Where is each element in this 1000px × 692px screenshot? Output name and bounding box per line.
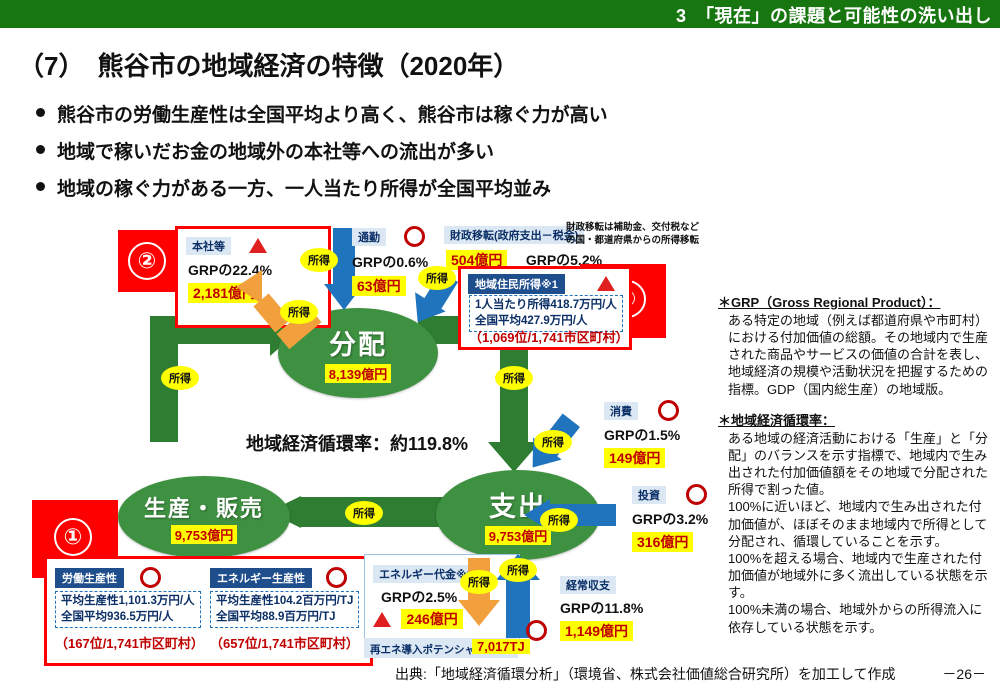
consumption-info: 消費 GRPの1.5% 149億円	[604, 400, 680, 468]
labor-productivity-tag: 労働生産性	[55, 568, 124, 588]
commute-grp: GRPの0.6%	[352, 252, 428, 272]
labor-productivity-value: 平均生産性1,101.3万円/人	[61, 595, 195, 607]
flow-label-income: 所得	[300, 248, 338, 272]
labor-productivity-national-average: 全国平均936.5万円/人	[61, 611, 173, 623]
circle-red-icon	[326, 567, 347, 588]
circulation-rate-label: 地域経済循環率：約119.8%	[246, 430, 468, 456]
list-item: 地域の稼ぐ力がある一方、一人当たり所得が全国平均並み	[36, 174, 736, 201]
circle-red-icon	[140, 567, 161, 588]
fiscal-transfer-note: 財政移転は補助金、交付税など の国・都道府県からの所得移転	[566, 222, 714, 248]
bullet-text: 熊谷市の労働生産性は全国平均より高く、熊谷市は稼ぐ力が高い	[57, 100, 608, 127]
circle-red-icon	[526, 620, 547, 641]
flow-label-income: 所得	[418, 266, 456, 290]
triangle-red-icon	[249, 238, 267, 253]
note-body: ある特定の地域（例えば都道府県や市町村）における付加価値の総額。その地域内で生産…	[718, 312, 994, 398]
node-label: 生産・販売	[144, 491, 264, 523]
regional-economy-flow-diagram: 所得 所得 所得 分配 8,139億円 生産・販売 9,753億円 支出 9,7…	[0, 218, 712, 668]
bullet-dot-icon	[36, 145, 45, 154]
flow-label-income: 所得	[345, 501, 383, 525]
side-notes: ＊GRP（Gross Regional Product）： ある特定の地域（例え…	[718, 292, 994, 648]
investment-amount: 316億円	[632, 532, 693, 552]
resident-income-rank: （1,069位/1,741市区町村）	[469, 327, 629, 346]
energy-cost-amount: 246億円	[401, 609, 462, 629]
list-item: 熊谷市の労働生産性は全国平均より高く、熊谷市は稼ぐ力が高い	[36, 100, 736, 127]
callout-2-number: ②	[128, 242, 166, 280]
bullet-text: 地域の稼ぐ力がある一方、一人当たり所得が全国平均並み	[57, 174, 551, 201]
circle-red-icon	[404, 226, 425, 247]
callout-1-card-labor: 労働生産性 平均生産性1,101.3万円/人 全国平均936.5万円/人 （16…	[44, 556, 210, 666]
consumption-amount: 149億円	[604, 448, 665, 468]
flow-label-income: 所得	[161, 366, 199, 390]
labor-productivity-rank: （167位/1,741市区町村）	[55, 633, 204, 652]
node-label: 分配	[329, 323, 387, 362]
circle-red-icon	[658, 400, 679, 421]
renewable-potential-value: 7,017TJ	[472, 639, 530, 654]
energy-productivity-rank: （657位/1,741市区町村）	[210, 633, 359, 652]
callout-3-card: 地域住民所得※1 1人当たり所得418.7万円/人 全国平均427.9万円/人 …	[458, 266, 632, 350]
current-balance-tag: 経常収支	[560, 576, 616, 594]
page-number: －26－	[942, 664, 986, 684]
header-section-label: 3 「現在」の課題と可能性の洗い出し	[676, 2, 992, 28]
list-item: 地域で稼いだお金の地域外の本社等への流出が多い	[36, 137, 736, 164]
node-value: 9,753億円	[171, 525, 238, 544]
source-citation: 出典:「地域経済循環分析」（環境省、株式会社価値総合研究所）を加工して作成	[395, 664, 895, 684]
commute-amount: 63億円	[352, 276, 406, 296]
fiscal-transfer-tag: 財政移転(政府支出－税金)	[444, 226, 584, 244]
flow-label-income: 所得	[540, 508, 578, 532]
current-balance-info: 経常収支 GRPの11.8% 1,149億円	[560, 576, 643, 641]
headquarters-tag: 本社等	[186, 237, 231, 255]
consumption-grp: GRPの1.5%	[604, 425, 680, 445]
consumption-tag: 消費	[604, 402, 638, 420]
renewable-potential-label: 再エネ導入ポテンシャル	[370, 642, 486, 657]
note-body: ある地域の経済活動における「生産」と「分配」のバランスを示す指標で、地域内で生み…	[718, 430, 994, 636]
page-title: （7） 熊谷市の地域経済の特徴（2020年）	[18, 46, 519, 83]
note-grp: ＊GRP（Gross Regional Product）： ある特定の地域（例え…	[718, 292, 994, 398]
energy-productivity-tag: エネルギー生産性	[210, 568, 312, 588]
triangle-red-icon	[373, 612, 391, 627]
note-circulation-rate: ＊地域経済循環率： ある地域の経済活動における「生産」と「分配」のバランスを示す…	[718, 410, 994, 636]
current-balance-grp: GRPの11.8%	[560, 598, 643, 618]
resident-income-per-capita: 1人当たり所得418.7万円/人	[475, 299, 617, 311]
circle-red-icon	[686, 484, 707, 505]
flow-label-income: 所得	[460, 570, 498, 594]
node-production-sales: 生産・販売 9,753億円	[118, 476, 290, 558]
bullet-list: 熊谷市の労働生産性は全国平均より高く、熊谷市は稼ぐ力が高い 地域で稼いだお金の地…	[36, 100, 736, 211]
node-value: 8,139億円	[325, 364, 392, 383]
investment-grp: GRPの3.2%	[632, 509, 708, 529]
investment-tag: 投資	[632, 486, 666, 504]
current-balance-amount: 1,149億円	[560, 621, 633, 641]
resident-income-tag: 地域住民所得※1	[468, 274, 565, 294]
commute-tag: 通勤	[352, 228, 386, 246]
renewable-potential-row: 再エネ導入ポテンシャル 7,017TJ	[364, 638, 518, 658]
energy-cost-grp: GRPの2.5%	[381, 587, 457, 607]
flow-label-income: 所得	[534, 430, 572, 454]
fiscal-transfer-info: 財政移転(政府支出－税金)	[444, 226, 584, 244]
flow-label-income: 所得	[499, 558, 537, 582]
triangle-red-icon	[597, 276, 615, 291]
note-heading: ＊地域経済循環率：	[718, 410, 994, 429]
flow-label-income: 所得	[280, 300, 318, 324]
flow-label-income: 所得	[495, 366, 533, 390]
note-heading: ＊GRP（Gross Regional Product）：	[718, 292, 994, 311]
callout-1-number: ①	[54, 518, 92, 556]
resident-income-national-average: 全国平均427.9万円/人	[475, 315, 587, 327]
investment-info: 投資 GRPの3.2% 316億円	[632, 484, 708, 552]
bullet-text: 地域で稼いだお金の地域外の本社等への流出が多い	[57, 137, 494, 164]
callout-1-card-energy: エネルギー生産性 平均生産性104.2百万円/TJ 全国平均88.9百万円/TJ…	[202, 556, 373, 666]
bullet-dot-icon	[36, 182, 45, 191]
bullet-dot-icon	[36, 108, 45, 117]
commute-info: 通勤 GRPの0.6% 63億円	[352, 226, 428, 296]
energy-productivity-value: 平均生産性104.2百万円/TJ	[216, 595, 353, 607]
energy-productivity-national-average: 全国平均88.9百万円/TJ	[216, 611, 336, 623]
